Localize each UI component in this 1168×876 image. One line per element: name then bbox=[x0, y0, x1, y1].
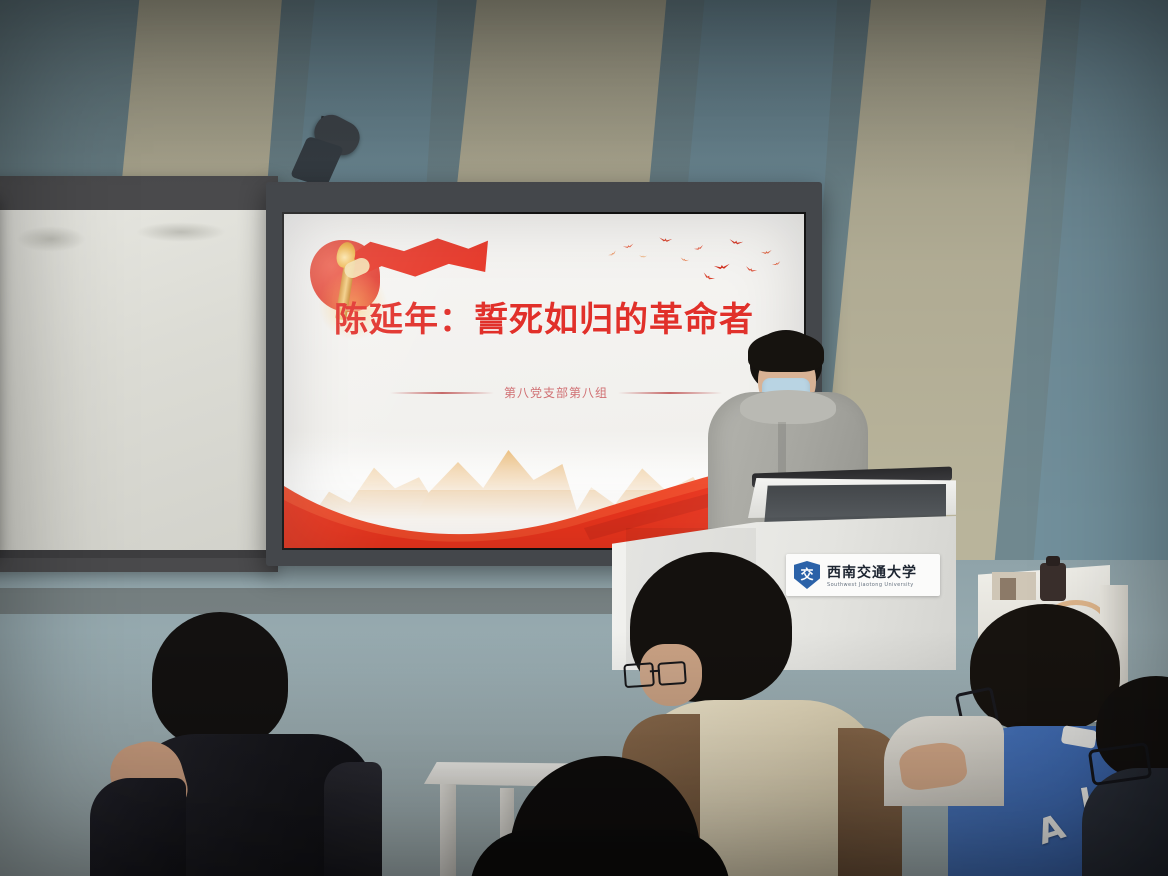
bird-icon bbox=[607, 249, 618, 258]
bird-icon bbox=[760, 248, 772, 256]
bird-icon bbox=[623, 241, 635, 250]
bird-icon bbox=[744, 264, 758, 275]
slide-title: 陈延年：誓死如归的革命者 bbox=[328, 302, 760, 339]
bird-icon bbox=[680, 255, 690, 263]
flying-birds-decoration bbox=[592, 230, 788, 300]
shelf-box bbox=[1000, 578, 1016, 600]
shelf-bottle bbox=[1040, 563, 1066, 601]
bird-icon bbox=[728, 237, 743, 248]
speaker-icon bbox=[296, 112, 356, 182]
shelf-bottle-cap bbox=[1046, 556, 1060, 566]
whiteboard-surface bbox=[0, 210, 272, 550]
wall-trim bbox=[0, 588, 640, 614]
desk-leg bbox=[440, 784, 456, 876]
slide-subtitle: 第八党支部第八组 bbox=[494, 384, 618, 401]
student-shoulders bbox=[470, 830, 730, 876]
classroom-scene: 陈延年：誓死如归的革命者 第八党支部第八组 交 西南交通大学 bbox=[0, 0, 1168, 876]
subtitle-rule-left bbox=[390, 392, 494, 394]
bird-icon bbox=[772, 260, 782, 268]
bird-icon bbox=[639, 254, 647, 259]
student-arm bbox=[90, 778, 186, 876]
hood bbox=[740, 390, 836, 424]
bird-icon bbox=[693, 243, 705, 252]
student-shoulder bbox=[324, 762, 382, 876]
audience-member bbox=[470, 756, 730, 876]
bird-icon bbox=[658, 235, 672, 245]
student-hair bbox=[152, 612, 288, 748]
bird-icon bbox=[713, 261, 730, 273]
glasses-icon bbox=[623, 658, 689, 688]
audience-member bbox=[96, 612, 396, 876]
audience-member bbox=[1096, 676, 1168, 876]
whiteboard bbox=[0, 176, 278, 572]
